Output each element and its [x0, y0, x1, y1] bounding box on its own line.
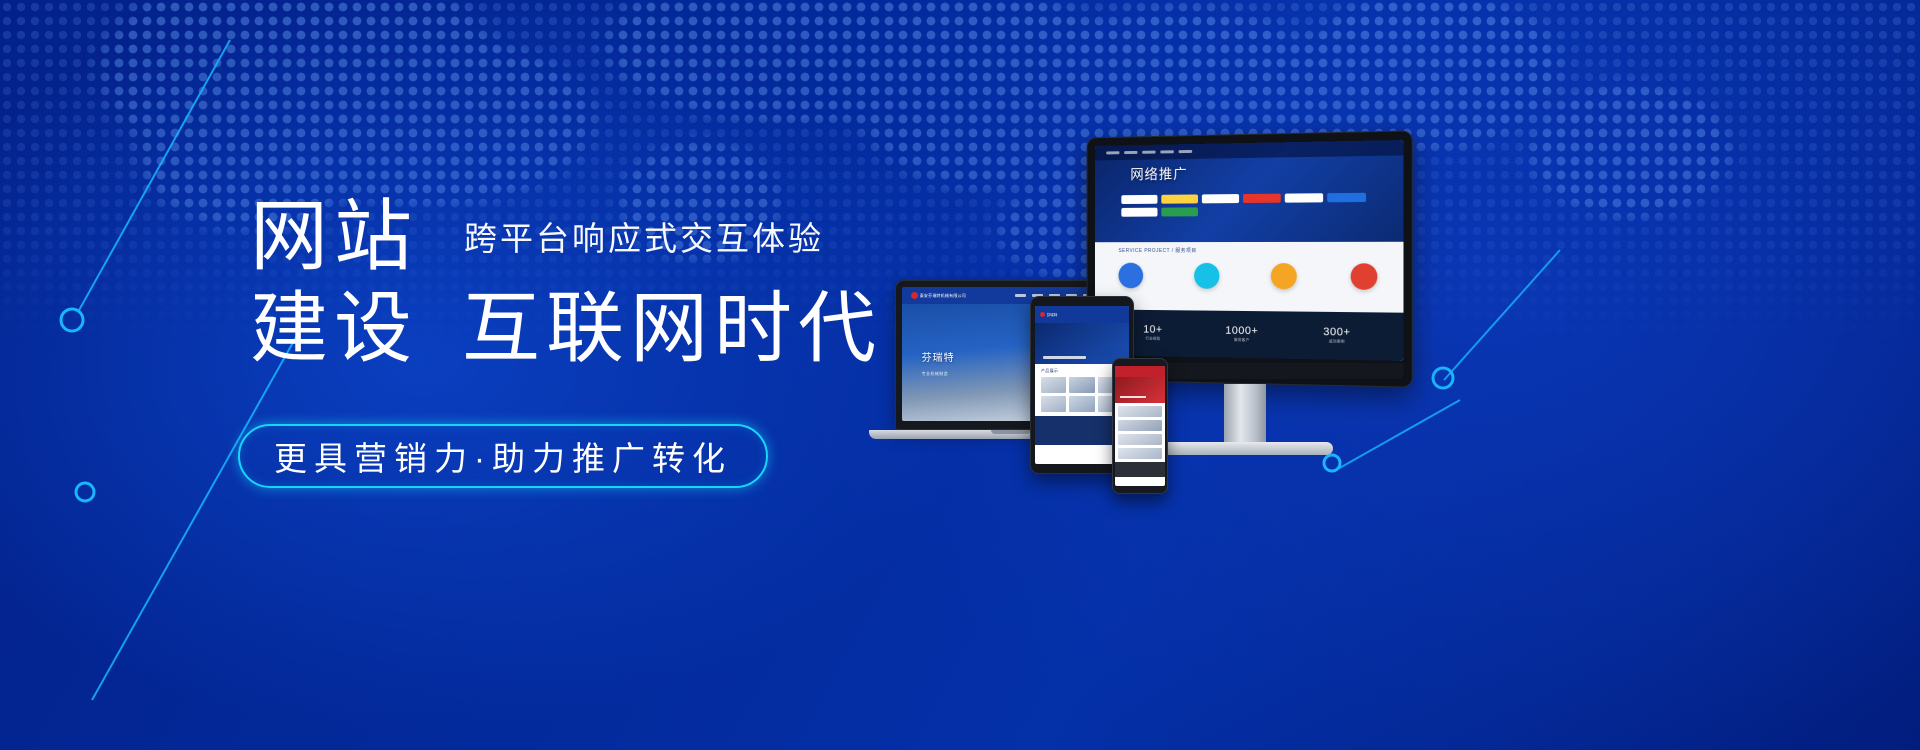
- tablet-product-grid: [1041, 377, 1123, 412]
- stat-number: 1000+: [1225, 325, 1258, 338]
- service-icon-circle: [1118, 262, 1143, 288]
- monitor-stand-foot: [1157, 442, 1333, 455]
- nav-link-item: [1107, 151, 1120, 154]
- service-icon-circle: [1194, 262, 1219, 288]
- tagline-badge: 更具营销力·助力推广转化: [238, 424, 768, 488]
- phone-hero: [1115, 377, 1165, 403]
- phone-list-row: [1118, 434, 1162, 445]
- partner-logo-chip: [1327, 193, 1366, 203]
- partner-logo-chip: [1285, 194, 1323, 203]
- headline-accent-phrase: 互联网时代: [462, 288, 882, 368]
- monitor-service-icons: [1118, 262, 1377, 289]
- stat-item: 300+ 成功案例: [1323, 326, 1350, 345]
- monitor-hero: 网络推广: [1095, 140, 1403, 242]
- nav-link-item: [1161, 150, 1174, 153]
- nav-link-item: [1143, 150, 1156, 153]
- partner-logo-chip: [1121, 208, 1157, 217]
- headline-row-2: 建设 互联网时代: [250, 288, 890, 368]
- tagline-text: 更具营销力·助力推广转化: [274, 432, 732, 480]
- stat-item: 10+ 行业经验: [1143, 324, 1162, 342]
- headline-primary-line2: 建设: [250, 288, 418, 368]
- monitor-section-title: SERVICE PROJECT / 服务项目: [1118, 247, 1196, 254]
- partner-logo-chip: [1202, 194, 1239, 203]
- laptop-hero-subtitle: 专业机械制造: [922, 371, 948, 377]
- hero-banner: 网站 跨平台响应式交互体验 建设 互联网时代 更具营销力·助力推广转化 泰安芬瑞…: [0, 0, 1920, 750]
- tablet-section-title: 产品展示: [1041, 368, 1123, 374]
- partner-logo-chip: [1161, 208, 1198, 217]
- partner-logo-chip: [1243, 194, 1281, 203]
- product-thumb: [1041, 377, 1066, 393]
- product-thumb: [1041, 396, 1066, 412]
- headline-row-1: 网站 跨平台响应式交互体验: [250, 196, 890, 276]
- product-thumb: [1069, 377, 1094, 393]
- stat-item: 1000+ 服务客户: [1225, 325, 1258, 344]
- service-icon-circle: [1351, 263, 1378, 290]
- monitor-screen: 网络推广 SERVICE PROJECT / 服务项目: [1095, 140, 1403, 361]
- phone-hero-bar: [1120, 396, 1146, 398]
- phone-list-row: [1118, 420, 1162, 431]
- stat-number: 300+: [1323, 326, 1350, 339]
- phone-screen: [1115, 366, 1165, 486]
- headline-block: 网站 跨平台响应式交互体验 建设 互联网时代: [250, 196, 890, 369]
- stat-label: 行业经验: [1143, 337, 1162, 342]
- phone-list-row: [1118, 406, 1162, 417]
- monitor-stand-neck: [1224, 384, 1266, 446]
- partner-logo-chip: [1161, 195, 1198, 204]
- phone-footer: [1115, 462, 1165, 476]
- logo-mark-icon: [1040, 312, 1045, 317]
- service-icon-circle: [1271, 263, 1297, 289]
- monitor-service-section: SERVICE PROJECT / 服务项目: [1095, 242, 1403, 313]
- partner-logo-chip: [1121, 195, 1157, 204]
- device-mockup-cluster: 泰安芬瑞特机械有限公司 芬瑞特 专业机械制造: [880, 120, 1440, 550]
- tablet-logo-text: 芬瑞特: [1047, 312, 1058, 317]
- phone-navbar: [1115, 366, 1165, 377]
- phone-list-row: [1118, 448, 1162, 459]
- headline-primary-line1: 网站: [250, 196, 418, 276]
- laptop-notch: [991, 430, 1031, 434]
- monitor-partner-logos: [1121, 193, 1374, 217]
- nav-link-item: [1125, 151, 1138, 154]
- phone-mockup: [1112, 358, 1168, 494]
- stat-number: 10+: [1143, 324, 1162, 336]
- monitor-stats-bar: 10+ 行业经验 1000+ 服务客户 300+ 成功案例: [1095, 309, 1403, 361]
- laptop-hero-title: 芬瑞特: [922, 349, 955, 364]
- monitor-hero-title: 网络推广: [1130, 164, 1187, 184]
- phone-content-rows: [1115, 403, 1165, 462]
- stat-label: 服务客户: [1225, 338, 1258, 344]
- tablet-hero-bar: [1043, 356, 1086, 359]
- headline-subtitle: 跨平台响应式交互体验: [464, 212, 824, 260]
- nav-link-item: [1179, 150, 1193, 153]
- product-thumb: [1069, 396, 1094, 412]
- tablet-navbar: 芬瑞特: [1035, 306, 1129, 323]
- stat-label: 成功案例: [1323, 340, 1350, 346]
